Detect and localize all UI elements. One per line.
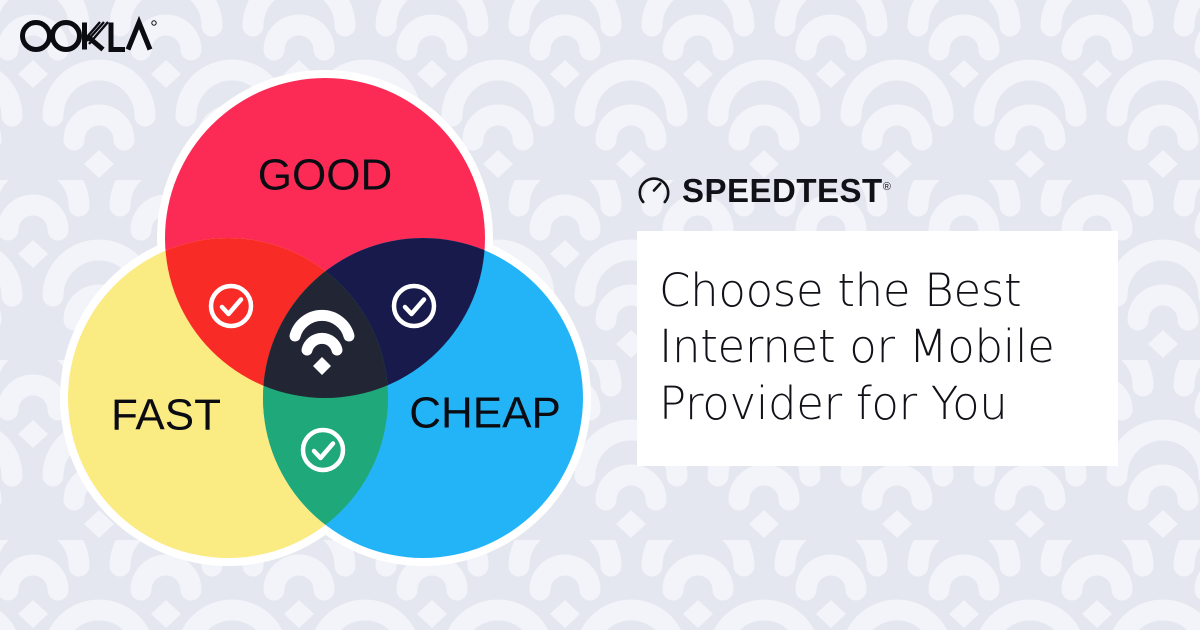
social-share-card: GOOD FAST CHEAP SPEEDTEST® Choose the Be… bbox=[0, 0, 1200, 630]
page-title: Choose the Best Internet or Mobile Provi… bbox=[659, 263, 1090, 432]
venn-label-good: GOOD bbox=[258, 151, 392, 200]
speedtest-wordmark: SPEEDTEST® bbox=[682, 174, 891, 207]
headline-line-3: Provider for You bbox=[659, 376, 1090, 432]
speedtest-registered-mark: ® bbox=[883, 181, 891, 193]
speedometer-icon bbox=[637, 173, 671, 207]
venn-label-fast: FAST bbox=[111, 391, 221, 440]
speedtest-wordmark-text: SPEEDTEST bbox=[682, 172, 883, 209]
speedtest-logo[interactable]: SPEEDTEST® bbox=[637, 168, 1137, 212]
venn-label-cheap: CHEAP bbox=[409, 389, 561, 438]
headline-line-2: Internet or Mobile bbox=[659, 319, 1090, 375]
venn-diagram: GOOD FAST CHEAP bbox=[40, 50, 610, 590]
headline-card: Choose the Best Internet or Mobile Provi… bbox=[637, 231, 1118, 466]
headline-line-1: Choose the Best bbox=[659, 263, 1090, 319]
right-column: SPEEDTEST® Choose the Best Internet or M… bbox=[637, 168, 1137, 466]
